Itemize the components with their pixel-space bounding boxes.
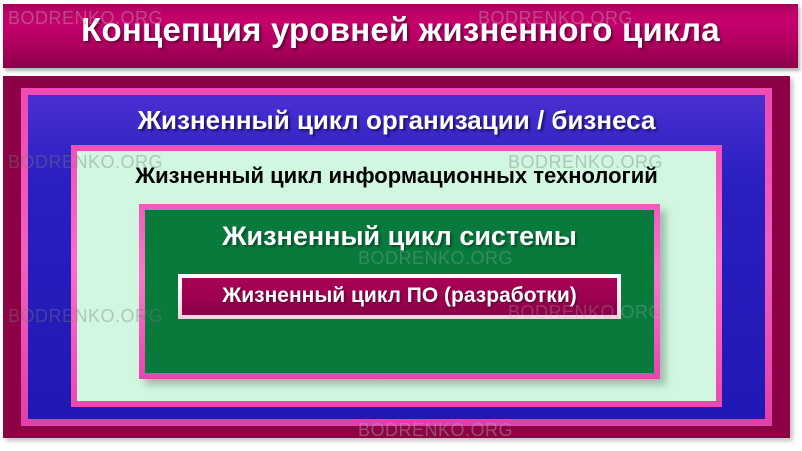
level-2-information-technology-box[interactable]: Жизненный цикл информационных технологий…: [77, 151, 716, 401]
level-3-frame: Жизненный цикл системы Жизненный цикл ПО…: [139, 204, 660, 379]
level-3-label: Жизненный цикл системы: [145, 221, 654, 252]
slide-title-banner: Концепция уровней жизненного цикла: [3, 4, 798, 68]
level-2-frame: Жизненный цикл информационных технологий…: [71, 145, 722, 407]
level-4-label: Жизненный цикл ПО (разработки): [182, 284, 617, 308]
slide-canvas: Концепция уровней жизненного цикла Жизне…: [0, 0, 802, 451]
level-4-software-box[interactable]: Жизненный цикл ПО (разработки): [182, 278, 617, 315]
level-1-label: Жизненный цикл организации / бизнеса: [28, 105, 765, 136]
level-1-frame: Жизненный цикл организации / бизнеса Жиз…: [21, 88, 772, 426]
level-1-organization-box[interactable]: Жизненный цикл организации / бизнеса Жиз…: [28, 95, 765, 419]
level-4-frame: Жизненный цикл ПО (разработки): [178, 274, 621, 319]
lifecycle-levels-diagram: Жизненный цикл организации / бизнеса Жиз…: [3, 76, 790, 438]
level-3-system-box[interactable]: Жизненный цикл системы Жизненный цикл ПО…: [145, 210, 654, 373]
level-2-label: Жизненный цикл информационных технологий: [77, 163, 716, 189]
page-title: Концепция уровней жизненного цикла: [3, 11, 798, 49]
